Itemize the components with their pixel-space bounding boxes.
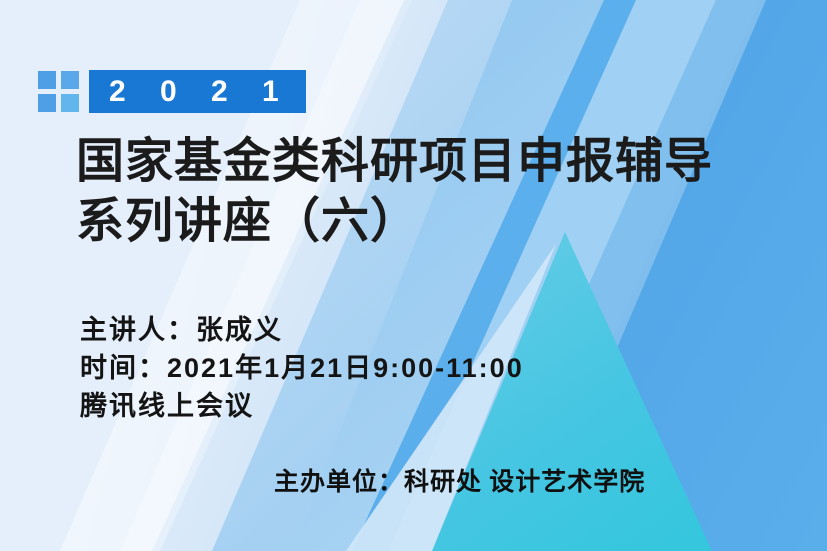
speaker-line: 主讲人：张成义 (80, 311, 524, 349)
title-line-2: 系列讲座（六） (76, 192, 816, 252)
year-badge-row: 2 0 2 1 (38, 70, 306, 113)
time-line: 时间：2021年1月21日9:00-11:00 (80, 349, 524, 387)
poster-canvas: 2 0 2 1 国家基金类科研项目申报辅导 系列讲座（六） 主讲人：张成义 时间… (0, 0, 827, 551)
title-line-1: 国家基金类科研项目申报辅导 (76, 132, 816, 192)
organizers-line: 主办单位：科研处 设计艺术学院 (274, 462, 645, 498)
year-badge: 2 0 2 1 (89, 70, 306, 113)
poster-title: 国家基金类科研项目申报辅导 系列讲座（六） (76, 132, 816, 252)
venue-line: 腾讯线上会议 (80, 387, 524, 425)
grid-4-squares-icon (38, 71, 79, 112)
event-info: 主讲人：张成义 时间：2021年1月21日9:00-11:00 腾讯线上会议 (80, 311, 524, 425)
